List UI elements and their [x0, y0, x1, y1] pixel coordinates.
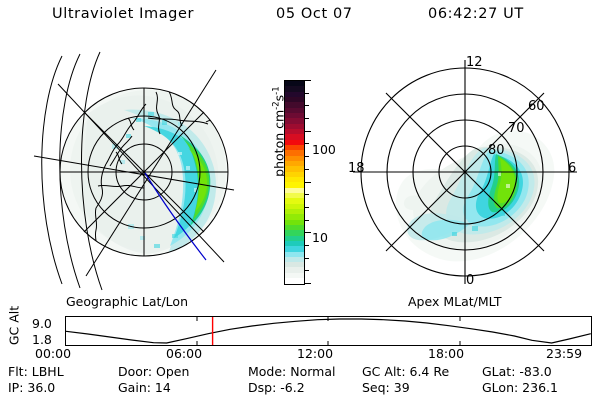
apex-mlat-mlt-panel[interactable]: 12 18 6 0 60 70 80	[340, 44, 590, 296]
strip-chart-ticks	[197, 317, 460, 345]
header-bar: Ultraviolet Imager 05 Oct 07 06:42:27 UT	[0, 6, 600, 30]
geographic-map-svg	[28, 48, 260, 296]
colorbar-title-exponent-2: -1	[271, 86, 281, 94]
strip-chart-ytick-top: 9.0	[32, 316, 52, 331]
time-tick-1800: 18:00	[428, 346, 464, 361]
status-gc-alt: GC Alt: 6.4 Re	[362, 364, 449, 379]
strip-chart-svg	[66, 317, 591, 345]
time-tick-1200: 12:00	[297, 346, 333, 361]
mlt-label-12: 12	[466, 55, 483, 70]
colorbar-tick-marks	[305, 80, 313, 285]
mlt-label-6: 6	[568, 161, 576, 176]
altitude-trace	[66, 319, 591, 343]
status-mode: Mode: Normal	[248, 364, 335, 379]
time-axis: 00:00 06:00 12:00 18:00 23:59	[0, 346, 600, 362]
mlt-dial-svg: 12 18 6 0 60 70 80	[340, 44, 590, 296]
geographic-map-panel[interactable]	[28, 48, 260, 296]
status-door: Door: Open	[118, 364, 189, 379]
ultraviolet-imager-display: Ultraviolet Imager 05 Oct 07 06:42:27 UT	[0, 0, 600, 400]
status-glat: GLat: -83.0	[482, 364, 552, 379]
status-glon: GLon: 236.1	[482, 380, 558, 395]
colorbar-label-100: 100	[312, 142, 336, 157]
time-tick-2359: 23:59	[546, 346, 582, 361]
left-panel-caption: Geographic Lat/Lon	[66, 294, 188, 309]
instrument-title: Ultraviolet Imager	[52, 6, 194, 22]
mlt-label-0: 0	[466, 273, 474, 288]
strip-chart-ytick-bottom: 1.8	[32, 332, 52, 347]
mlat-label-60: 60	[528, 99, 545, 114]
mlat-label-70: 70	[508, 121, 525, 136]
gc-altitude-strip-chart[interactable]: GC Alt 9.0 1.8	[0, 308, 600, 348]
colorbar-segment	[285, 278, 304, 283]
status-seq: Seq: 39	[362, 380, 410, 395]
colorbar-title-exponent-1: -2	[271, 101, 281, 109]
strip-chart-plot-area[interactable]	[65, 316, 592, 346]
mlt-spokes	[353, 60, 577, 284]
status-block: Flt: LBHL Door: Open Mode: Normal GC Alt…	[0, 364, 600, 398]
observation-date: 05 Oct 07	[276, 6, 353, 22]
right-panel-caption: Apex MLat/MLT	[408, 294, 502, 309]
status-dsp: Dsp: -6.2	[248, 380, 305, 395]
mlat-label-80: 80	[488, 143, 505, 158]
status-ip: IP: 36.0	[8, 380, 55, 395]
status-filter: Flt: LBHL	[8, 364, 64, 379]
colorbar-group: photon cm-2s-1 100 10	[262, 52, 338, 296]
colorbar-gradient	[284, 80, 305, 285]
time-tick-0000: 00:00	[35, 346, 71, 361]
observation-time: 06:42:27 UT	[428, 6, 524, 22]
time-tick-0600: 06:00	[166, 346, 202, 361]
colorbar-label-10: 10	[312, 230, 328, 245]
status-gain: Gain: 14	[118, 380, 171, 395]
mlt-label-18: 18	[348, 161, 365, 176]
